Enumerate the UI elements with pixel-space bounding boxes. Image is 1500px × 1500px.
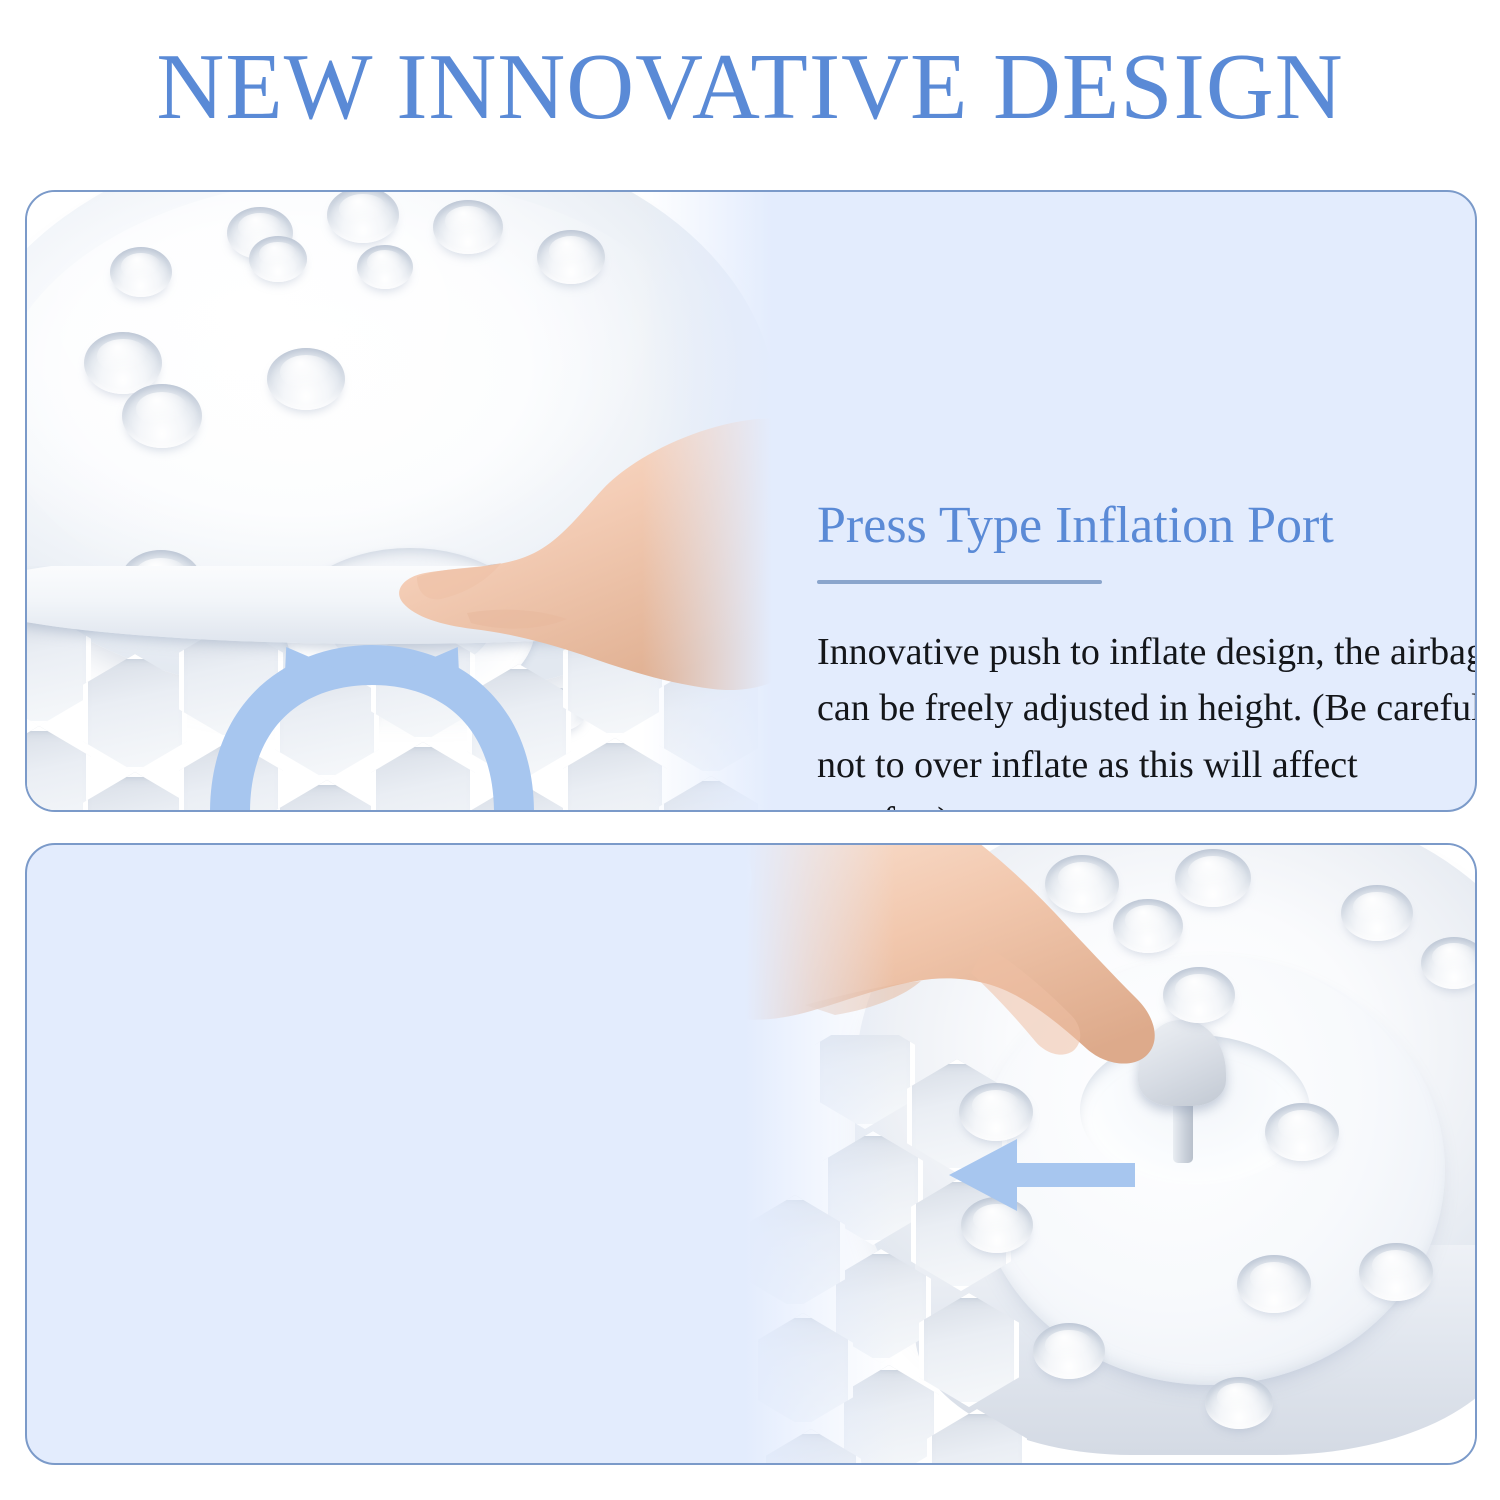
suction-nub-icon [1359,1243,1433,1301]
suction-nub-icon [122,384,202,448]
inflation-port-text-block: Press Type Inflation Port Innovative pus… [817,497,1477,812]
suction-nub-icon [1033,1323,1105,1379]
suction-nub-icon [537,230,605,284]
page-title: NEW INNOVATIVE DESIGN [0,38,1500,137]
product-photo-inflation-port [27,192,772,810]
inflation-port-body: Innovative push to inflate design, the a… [817,624,1477,812]
hand-press-icon [397,417,772,737]
suction-nub-icon [267,348,345,410]
feature-panel-inflation-port: Press Type Inflation Port Innovative pus… [25,190,1477,812]
suction-nub-icon [1265,1103,1339,1161]
suction-nub-icon [1205,1377,1273,1429]
hand-pull-icon [745,845,1215,1235]
heading-rule [817,580,1102,584]
suction-nub-icon [1237,1255,1311,1313]
inflation-port-heading: Press Type Inflation Port [817,497,1477,554]
feature-panel-exhaust-port: Exhaust Port If the airbag is inflated t… [25,843,1477,1465]
suction-nub-icon [249,236,307,282]
suction-nub-icon [357,245,413,289]
suction-nub-icon [1341,885,1413,941]
suction-nub-icon [433,200,503,254]
product-photo-exhaust-port [745,845,1475,1463]
suction-nub-icon [110,247,172,297]
